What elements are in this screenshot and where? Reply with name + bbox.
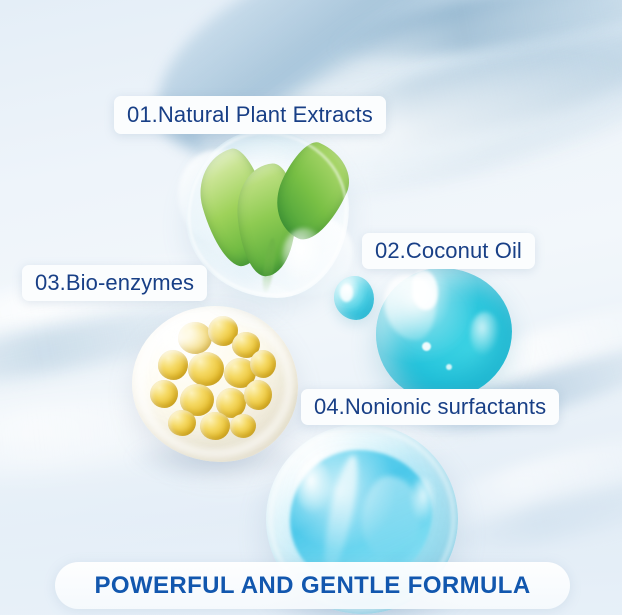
footer-headline: POWERFUL AND GENTLE FORMULA: [94, 572, 530, 600]
coconut-oil-small-droplet: [334, 276, 374, 320]
ingredient-label-02: 02.Coconut Oil: [362, 233, 535, 269]
footer-banner: POWERFUL AND GENTLE FORMULA: [55, 562, 570, 609]
natural-plant-extract-bubble: [186, 130, 349, 298]
ingredient-label-03: 03.Bio-enzymes: [22, 265, 207, 301]
ingredient-label-04: 04.Nonionic surfactants: [301, 389, 559, 425]
ingredient-label-01: 01.Natural Plant Extracts: [114, 96, 386, 134]
product-ingredient-poster: 01.Natural Plant Extracts 02.Coconut Oil…: [0, 0, 622, 615]
bio-enzyme-capsule-sphere: [132, 306, 298, 462]
